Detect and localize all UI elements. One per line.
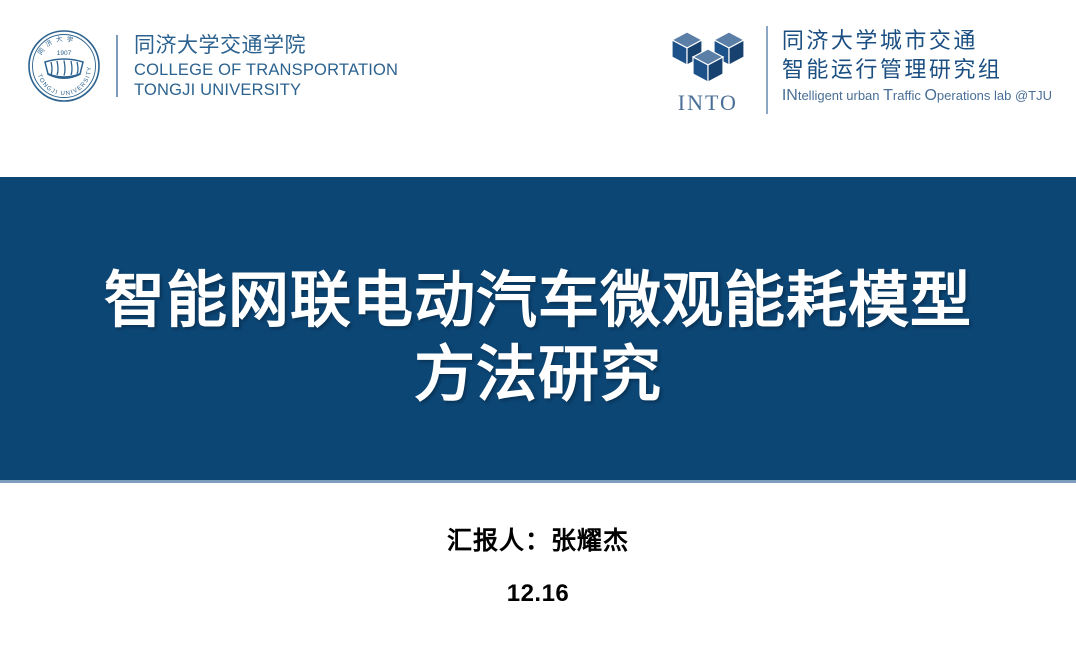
college-name-en2: TONGJI UNIVERSITY <box>134 80 398 100</box>
lab-name-cn-line1: 同济大学城市交通 <box>782 26 1052 55</box>
page-title: 智能网联电动汽车微观能耗模型 方法研究 <box>0 263 1076 411</box>
lab-tagline: INtelligent urban Traffic Operations lab… <box>782 87 1052 105</box>
lab-tagline-p6: perations lab @TJU <box>937 88 1052 103</box>
banner-underline <box>0 480 1076 483</box>
into-lab-logo-text: 同济大学城市交通 智能运行管理研究组 INtelligent urban Tra… <box>782 24 1052 105</box>
into-wordmark: INTO <box>678 91 738 115</box>
presentation-date: 12.16 <box>0 578 1076 610</box>
into-mark: INTO <box>662 24 754 115</box>
page-title-line2: 方法研究 <box>0 337 1076 411</box>
lab-tagline-p1: IN <box>782 87 798 104</box>
college-name-cn: 同济大学交通学院 <box>134 33 398 58</box>
tongji-college-logo-text: 同济大学交通学院 COLLEGE OF TRANSPORTATION TONGJ… <box>134 33 398 100</box>
into-cubes-icon <box>667 24 749 90</box>
logo-divider-right <box>766 26 768 114</box>
tongji-university-seal-icon: 同 济 大 学 TONGJI UNIVERSITY 1907 <box>26 28 102 104</box>
into-lab-logo: INTO 同济大学城市交通 智能运行管理研究组 INtelligent urba… <box>662 24 1052 115</box>
tongji-college-logo: 同 济 大 学 TONGJI UNIVERSITY 1907 同济大学交通学院 … <box>26 28 398 104</box>
slide-header: 同 济 大 学 TONGJI UNIVERSITY 1907 同济大学交通学院 … <box>0 0 1076 150</box>
lab-tagline-p4: raffic <box>893 88 925 103</box>
lab-tagline-p2: telligent urban <box>798 88 883 103</box>
svg-text:1907: 1907 <box>57 50 72 57</box>
title-banner: 智能网联电动汽车微观能耗模型 方法研究 <box>0 177 1076 480</box>
lab-tagline-p3: T <box>883 87 893 104</box>
lab-tagline-p5: O <box>924 87 936 104</box>
presenter-block: 汇报人：张耀杰 12.16 <box>0 524 1076 610</box>
presenter-name: 汇报人：张耀杰 <box>0 524 1076 558</box>
college-name-en1: COLLEGE OF TRANSPORTATION <box>134 60 398 80</box>
page-title-line1: 智能网联电动汽车微观能耗模型 <box>104 266 972 334</box>
logo-divider <box>116 35 118 97</box>
lab-name-cn-line2: 智能运行管理研究组 <box>782 55 1052 84</box>
